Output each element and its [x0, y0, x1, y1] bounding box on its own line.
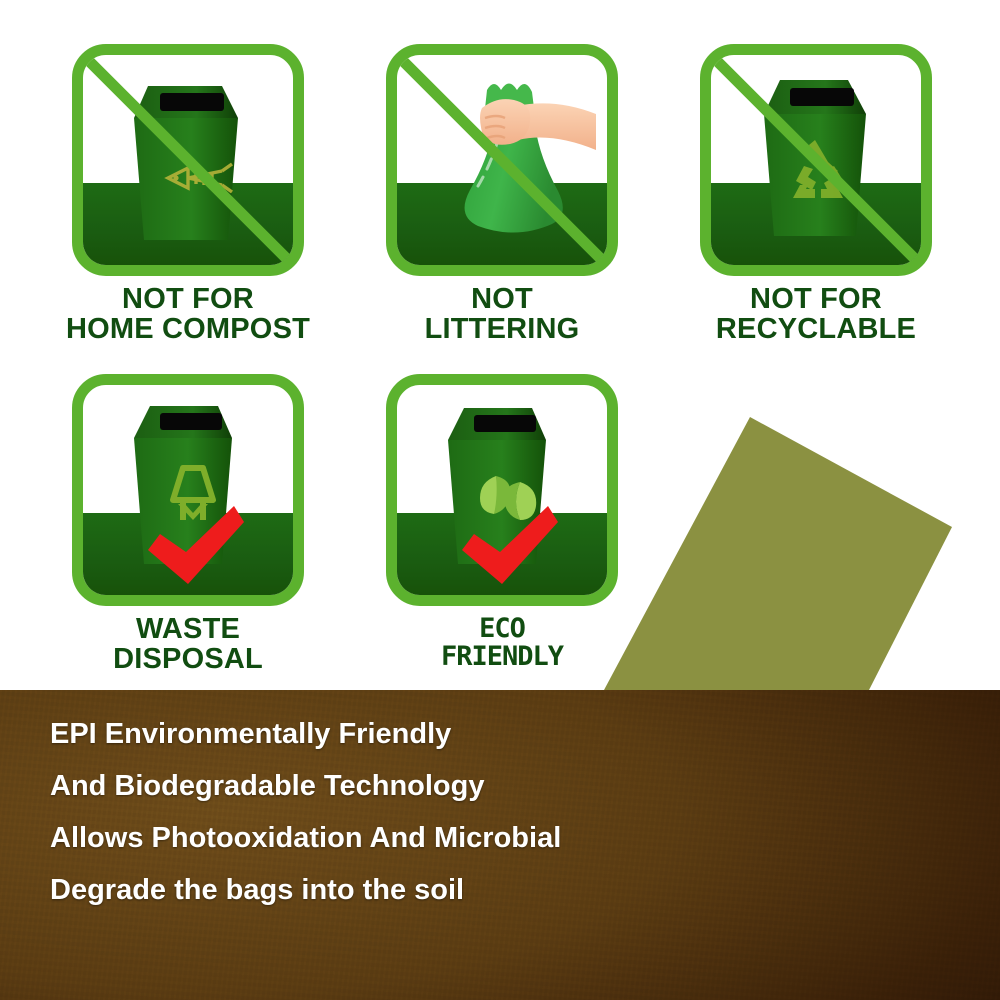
icon-grid: NOT FOR HOME COMPOST	[0, 0, 1000, 690]
badge-frame	[700, 44, 932, 276]
badge-caption: WASTE DISPOSAL	[38, 615, 338, 674]
badge-graphic	[386, 44, 618, 276]
badge-waste-disposal[interactable]: WASTE DISPOSAL	[38, 374, 338, 674]
badge-not-for-recyclable[interactable]: NOT FOR RECYCLABLE	[666, 44, 966, 344]
badge-frame	[386, 44, 618, 276]
badge-caption: NOT FOR RECYCLABLE	[666, 285, 966, 344]
tagline-line: EPI Environmentally Friendly	[50, 708, 650, 760]
badge-graphic	[386, 374, 618, 606]
badge-graphic	[72, 44, 304, 276]
soil-banner: EPI Environmentally Friendly And Biodegr…	[0, 690, 1000, 1000]
tagline-line: Degrade the bags into the soil	[50, 864, 650, 916]
trash-bin-recycle-icon	[700, 44, 932, 276]
badge-frame	[386, 374, 618, 606]
infographic-canvas: NOT FOR HOME COMPOST	[0, 0, 1000, 1000]
trash-bin-tidyman-icon	[72, 374, 304, 606]
tagline-line: Allows Photooxidation And Microbial	[50, 812, 650, 864]
tagline-line: And Biodegradable Technology	[50, 760, 650, 812]
badge-graphic	[72, 374, 304, 606]
hand-holding-garbage-bag-icon	[386, 44, 618, 276]
badge-graphic	[700, 44, 932, 276]
trash-bin-fish-bone-icon	[72, 44, 304, 276]
badge-frame	[72, 44, 304, 276]
badge-caption: NOT LITTERING	[352, 285, 652, 344]
badge-caption: ECO FRIENDLY	[352, 615, 652, 670]
badge-not-for-home-compost[interactable]: NOT FOR HOME COMPOST	[38, 44, 338, 344]
trash-bin-leaf-icon	[386, 374, 618, 606]
tagline-text: EPI Environmentally Friendly And Biodegr…	[50, 708, 650, 916]
badge-caption: NOT FOR HOME COMPOST	[38, 285, 338, 344]
badge-not-littering[interactable]: NOT LITTERING	[352, 44, 652, 344]
badge-frame	[72, 374, 304, 606]
badge-eco-friendly[interactable]: ECO FRIENDLY	[352, 374, 652, 670]
